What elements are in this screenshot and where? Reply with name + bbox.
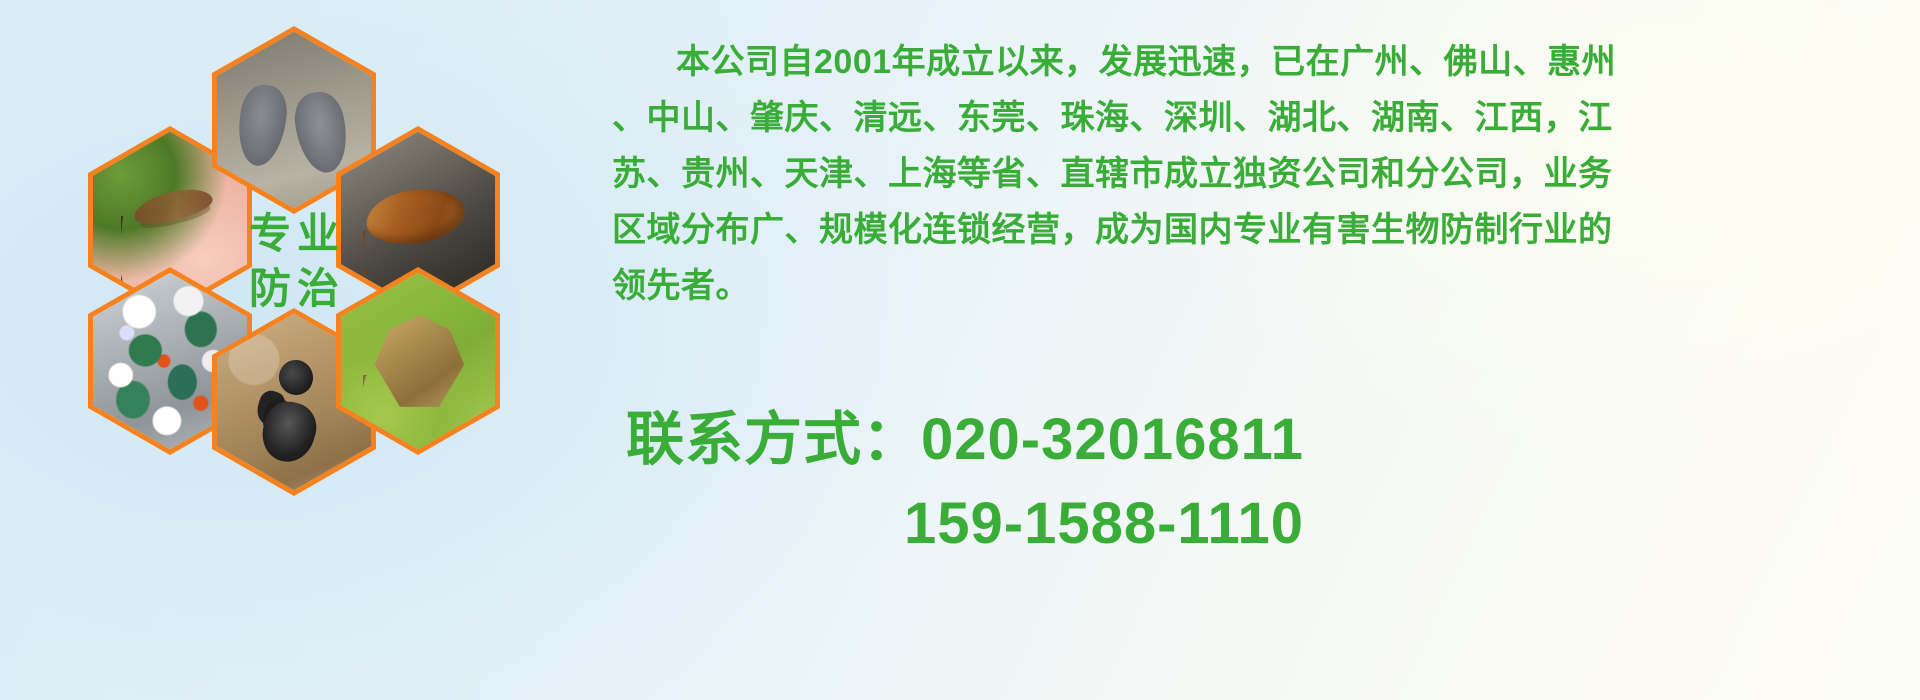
copy-line-3: 苏、贵州、天津、上海等省、直辖市成立独资公司和分公司，业务 bbox=[612, 146, 1908, 202]
honeycomb-photo-cluster: 专业 防治 bbox=[88, 8, 588, 568]
contact-phone-mobile[interactable]: 159-1588-1110 bbox=[612, 482, 1908, 566]
copy-line-5: 领先者。 bbox=[612, 258, 1908, 314]
copy-line-2: 、中山、肇庆、清远、东莞、珠海、深圳、湖北、湖南、江西，江 bbox=[612, 90, 1908, 146]
contact-info: 联系方式：020-32016811 159-1588-1110 bbox=[612, 398, 1908, 566]
promo-banner: 专业 防治 本公司自2001年成立以来，发展迅速，已在广州、佛山、惠州 、中山、… bbox=[0, 0, 1920, 700]
slogan-line-1: 专业 bbox=[243, 206, 345, 261]
company-description: 本公司自2001年成立以来，发展迅速，已在广州、佛山、惠州 、中山、肇庆、清远、… bbox=[612, 34, 1908, 314]
slogan-line-2: 防治 bbox=[243, 261, 345, 316]
contact-phone-landline[interactable]: 联系方式：020-32016811 bbox=[612, 398, 1908, 482]
copy-line-1: 本公司自2001年成立以来，发展迅速，已在广州、佛山、惠州 bbox=[612, 34, 1908, 90]
copy-line-4: 区域分布广、规模化连锁经营，成为国内专业有害生物防制行业的 bbox=[612, 202, 1908, 258]
